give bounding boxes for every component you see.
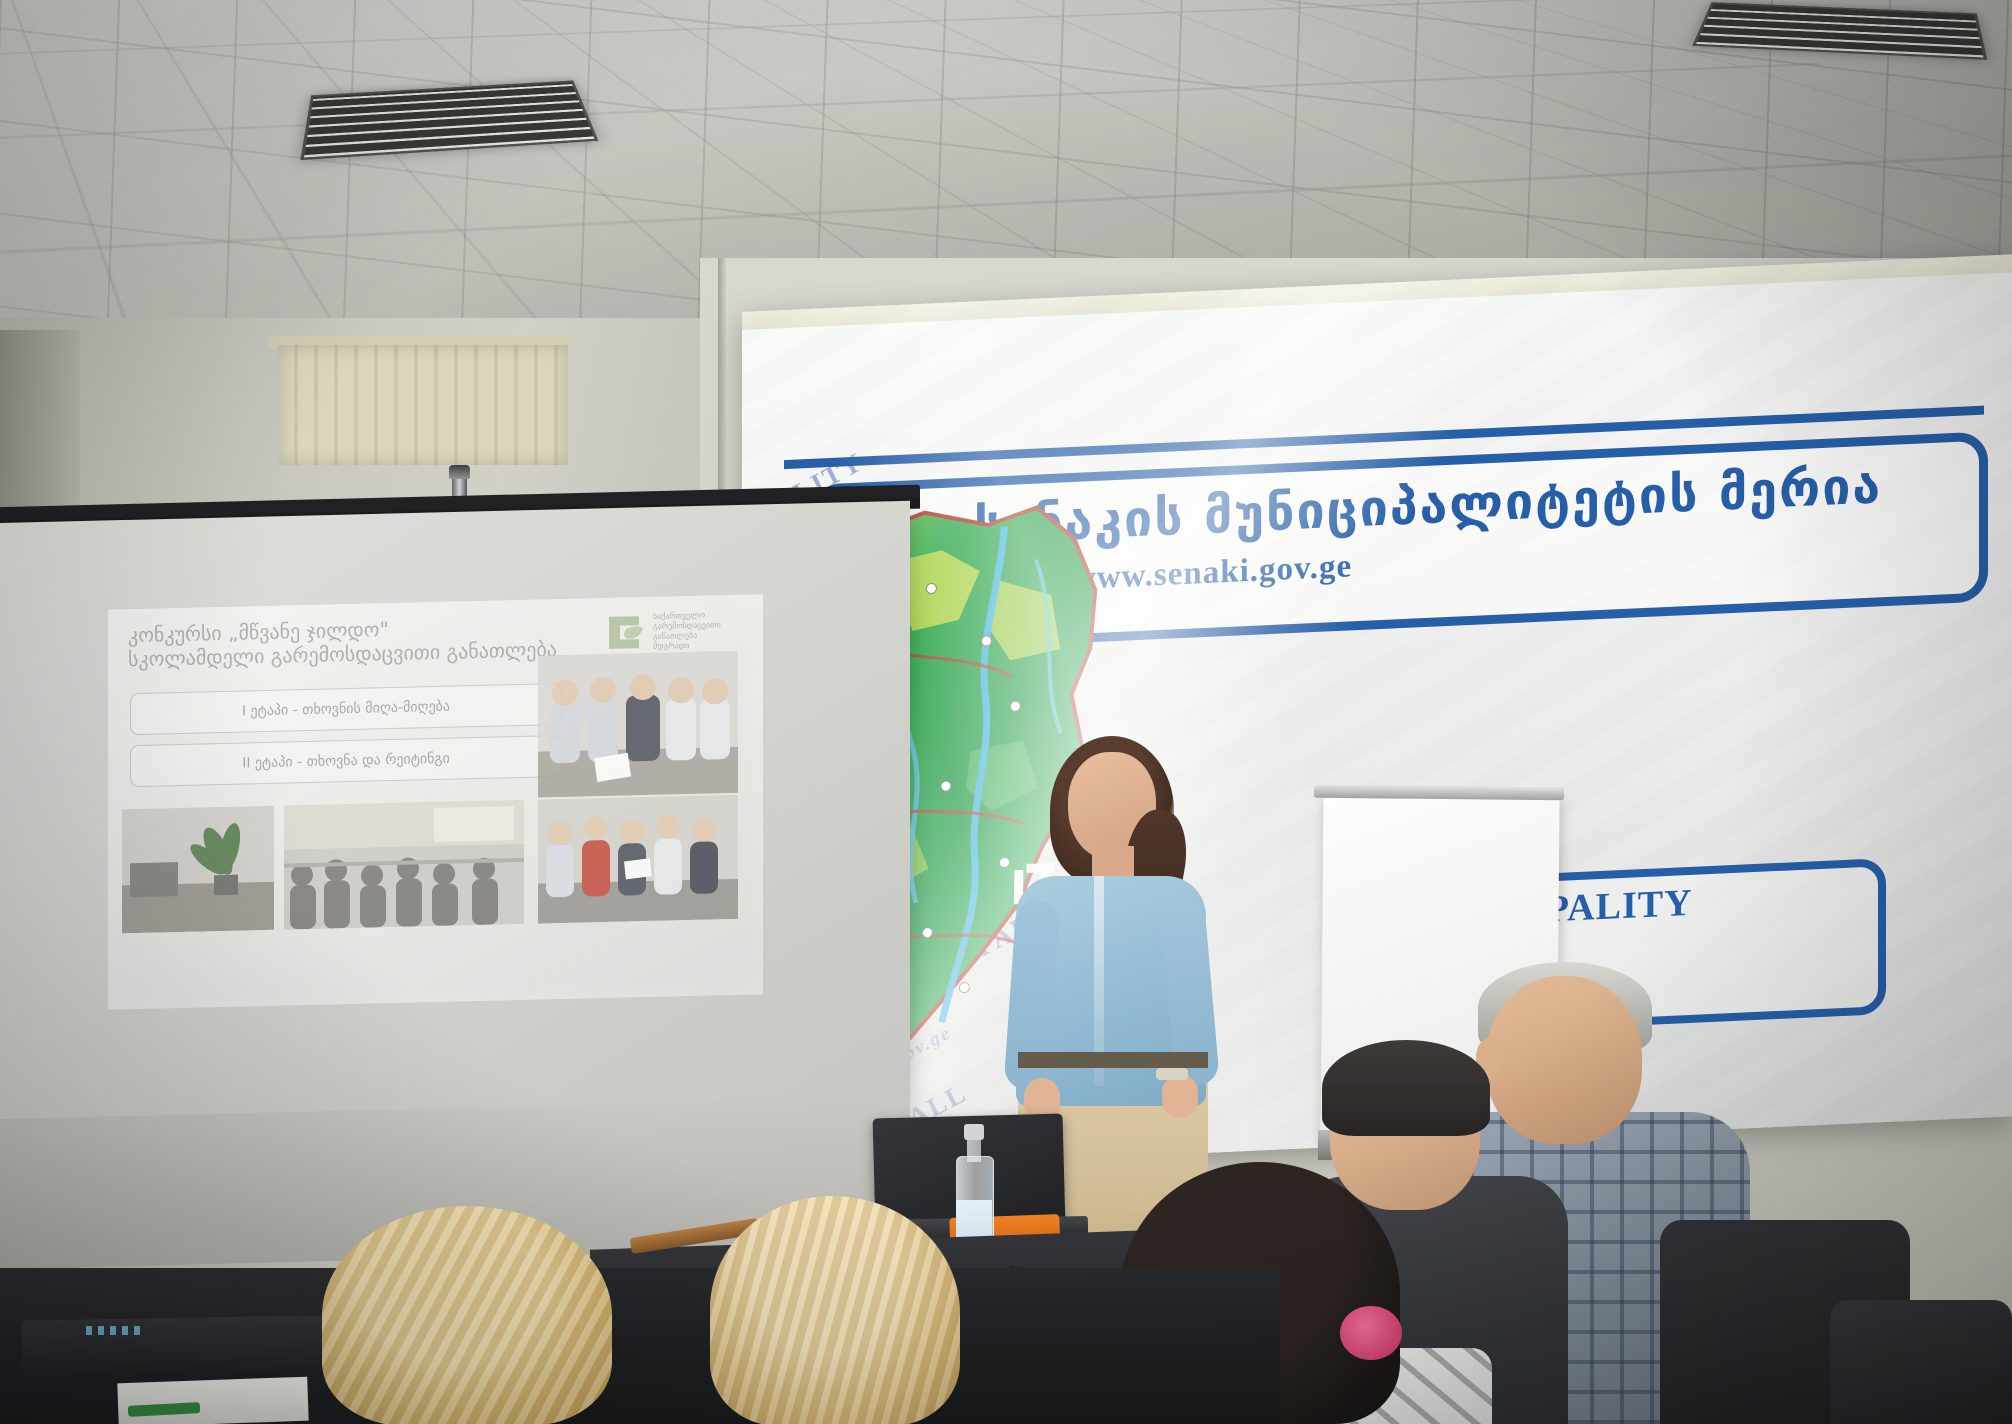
- slide-logo: საქართველო გარემოსდაცვითი განათლება მდგრ…: [605, 607, 745, 656]
- audience-blonde-front-left-hair: [322, 1206, 612, 1424]
- pink-hair-scrunchie: [1340, 1306, 1402, 1360]
- presenter-belt: [1018, 1052, 1208, 1068]
- audience-man-plaid-shirt-head: [1486, 976, 1642, 1144]
- presenter-right-hand: [1162, 1074, 1198, 1118]
- window-blinds: [278, 345, 568, 465]
- slide-photo-certificate-group: [538, 795, 738, 924]
- photo-scene: SENAKI MUNICIPALITY სენაკის მუნიციპალიტე…: [0, 0, 2012, 1424]
- slide-photo-award-ceremony: [538, 651, 738, 798]
- presenter-wristwatch: [1156, 1068, 1188, 1080]
- slide-photo-conference-audience: [284, 800, 524, 930]
- slide-photo-office-plant: [122, 806, 274, 934]
- audience-blonde-front-center-hair: [710, 1196, 960, 1424]
- projected-slide: კონკურსი „მწვანე ჯილდო" სკოლამდელი გარემ…: [108, 594, 763, 1009]
- slide-stage-2-box: II ეტაპი - თხოვნა და რეიტინგი: [130, 735, 562, 787]
- slide-stage-1-box: I ეტაპი - თხოვნის მიღა-მიღება: [130, 683, 562, 735]
- office-chair[interactable]: [1830, 1300, 2012, 1424]
- green-leaf-book-logo-icon: [605, 612, 647, 653]
- slide-stage-1-label: I ეტაპი - თხოვნის მიღა-მიღება: [242, 699, 450, 720]
- paper-stack: [117, 1377, 308, 1424]
- slide-stage-2-label: II ეტაპი - თხოვნა და რეიტინგი: [242, 751, 450, 772]
- slide-logo-text: საქართველო გარემოსდაცვითი განათლება მდგრ…: [653, 610, 745, 652]
- keyboard[interactable]: [22, 1315, 322, 1380]
- flipchart-top-bar: [1314, 785, 1564, 801]
- slide-logo-line2: გარემოსდაცვითი განათლება: [653, 620, 745, 642]
- keyboard-indicator-lights: [86, 1326, 144, 1335]
- audience-man-dark-jacket-hair: [1322, 1040, 1490, 1136]
